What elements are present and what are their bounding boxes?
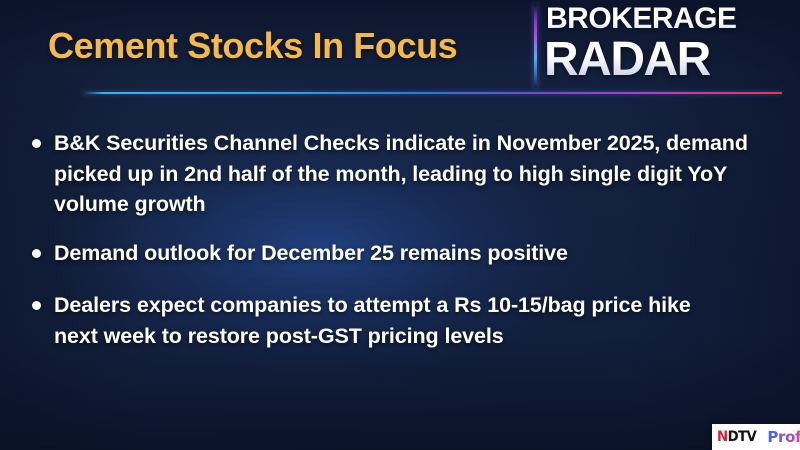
profit-wordmark: Profit (767, 428, 800, 446)
brokerage-radar-logo: BROKERAGE RADAR (546, 2, 794, 90)
ndtv-rest: DTV (728, 429, 757, 445)
header-gradient-rule (82, 92, 782, 94)
bullet-text: Demand outlook for December 25 remains p… (54, 238, 776, 269)
page-title: Cement Stocks In Focus (48, 16, 526, 76)
bullet-text: B&K Securities Channel Checks indicate i… (54, 128, 766, 220)
slide-header: Cement Stocks In Focus BROKERAGE RADAR (0, 0, 800, 96)
ndtv-n-accent: N (717, 429, 728, 445)
ndtv-wordmark: NDTV (717, 429, 756, 445)
broadcast-slide: Cement Stocks In Focus BROKERAGE RADAR B… (0, 0, 800, 450)
list-item: Demand outlook for December 25 remains p… (28, 238, 776, 269)
ndtv-profit-watermark: NDTV Profit (712, 424, 800, 450)
bullet-text: Dealers expect companies to attempt a Rs… (54, 290, 730, 351)
bullet-dot-icon (32, 249, 41, 258)
bullet-dot-icon (32, 301, 41, 310)
logo-line-radar: RADAR (544, 36, 710, 84)
logo-line-brokerage: BROKERAGE (546, 4, 737, 34)
list-item: B&K Securities Channel Checks indicate i… (28, 128, 776, 220)
list-item: Dealers expect companies to attempt a Rs… (28, 290, 776, 351)
header-divider (534, 4, 537, 88)
bullet-dot-icon (32, 139, 41, 148)
bullet-list: B&K Securities Channel Checks indicate i… (28, 128, 776, 369)
